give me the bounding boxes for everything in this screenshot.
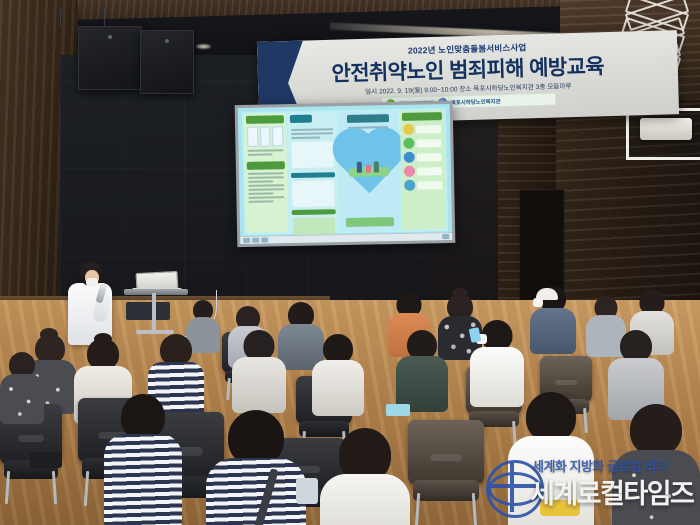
ceiling-speaker (78, 26, 142, 90)
start-button-icon (243, 238, 250, 243)
podium-cart-top (124, 289, 188, 295)
audience-member-front (320, 428, 410, 525)
slide-column-2 (288, 112, 338, 232)
watermark: 세계화 지방화 글로컬 리더 세계로컬타임즈 (486, 452, 698, 522)
tablet-screen (386, 404, 410, 416)
photo-scene: 2022년 노인맞춤돌봄서비스사업 안전취약노인 범죄피해 예방교육 일시 20… (0, 0, 700, 525)
downlight-icon (196, 44, 211, 49)
taskbar-item-icon (252, 238, 259, 243)
projection-screen (235, 101, 456, 247)
slide-column-4 (400, 110, 446, 230)
handbag (30, 452, 62, 468)
speaker-wire (60, 8, 61, 26)
audience-member-with-cap (530, 288, 564, 308)
podium-cart-leg (152, 293, 156, 331)
speaker-wire (104, 8, 105, 26)
audience-member-front (104, 394, 182, 524)
banner-org-right: 목포시하당노인복지관 (451, 97, 501, 106)
tray-icon (442, 234, 449, 239)
tote-bag (296, 478, 318, 504)
audience-member (396, 330, 448, 410)
watermark-name: 세계로컬타임즈 (530, 472, 693, 511)
taskbar-item-icon (261, 237, 268, 242)
slide-column-1 (244, 113, 288, 233)
family-figures-illustration (349, 156, 389, 177)
face-mask-icon (86, 278, 98, 286)
podium-cart-shelf (126, 302, 170, 320)
audience-member (232, 330, 286, 412)
ceiling-speaker (140, 30, 194, 94)
slide-content (242, 108, 448, 235)
audience-member (0, 352, 44, 422)
slide-column-3 (338, 111, 400, 231)
chair (408, 420, 484, 524)
audience-member-front (206, 410, 306, 525)
audience-member (312, 334, 364, 414)
projector (640, 118, 692, 140)
